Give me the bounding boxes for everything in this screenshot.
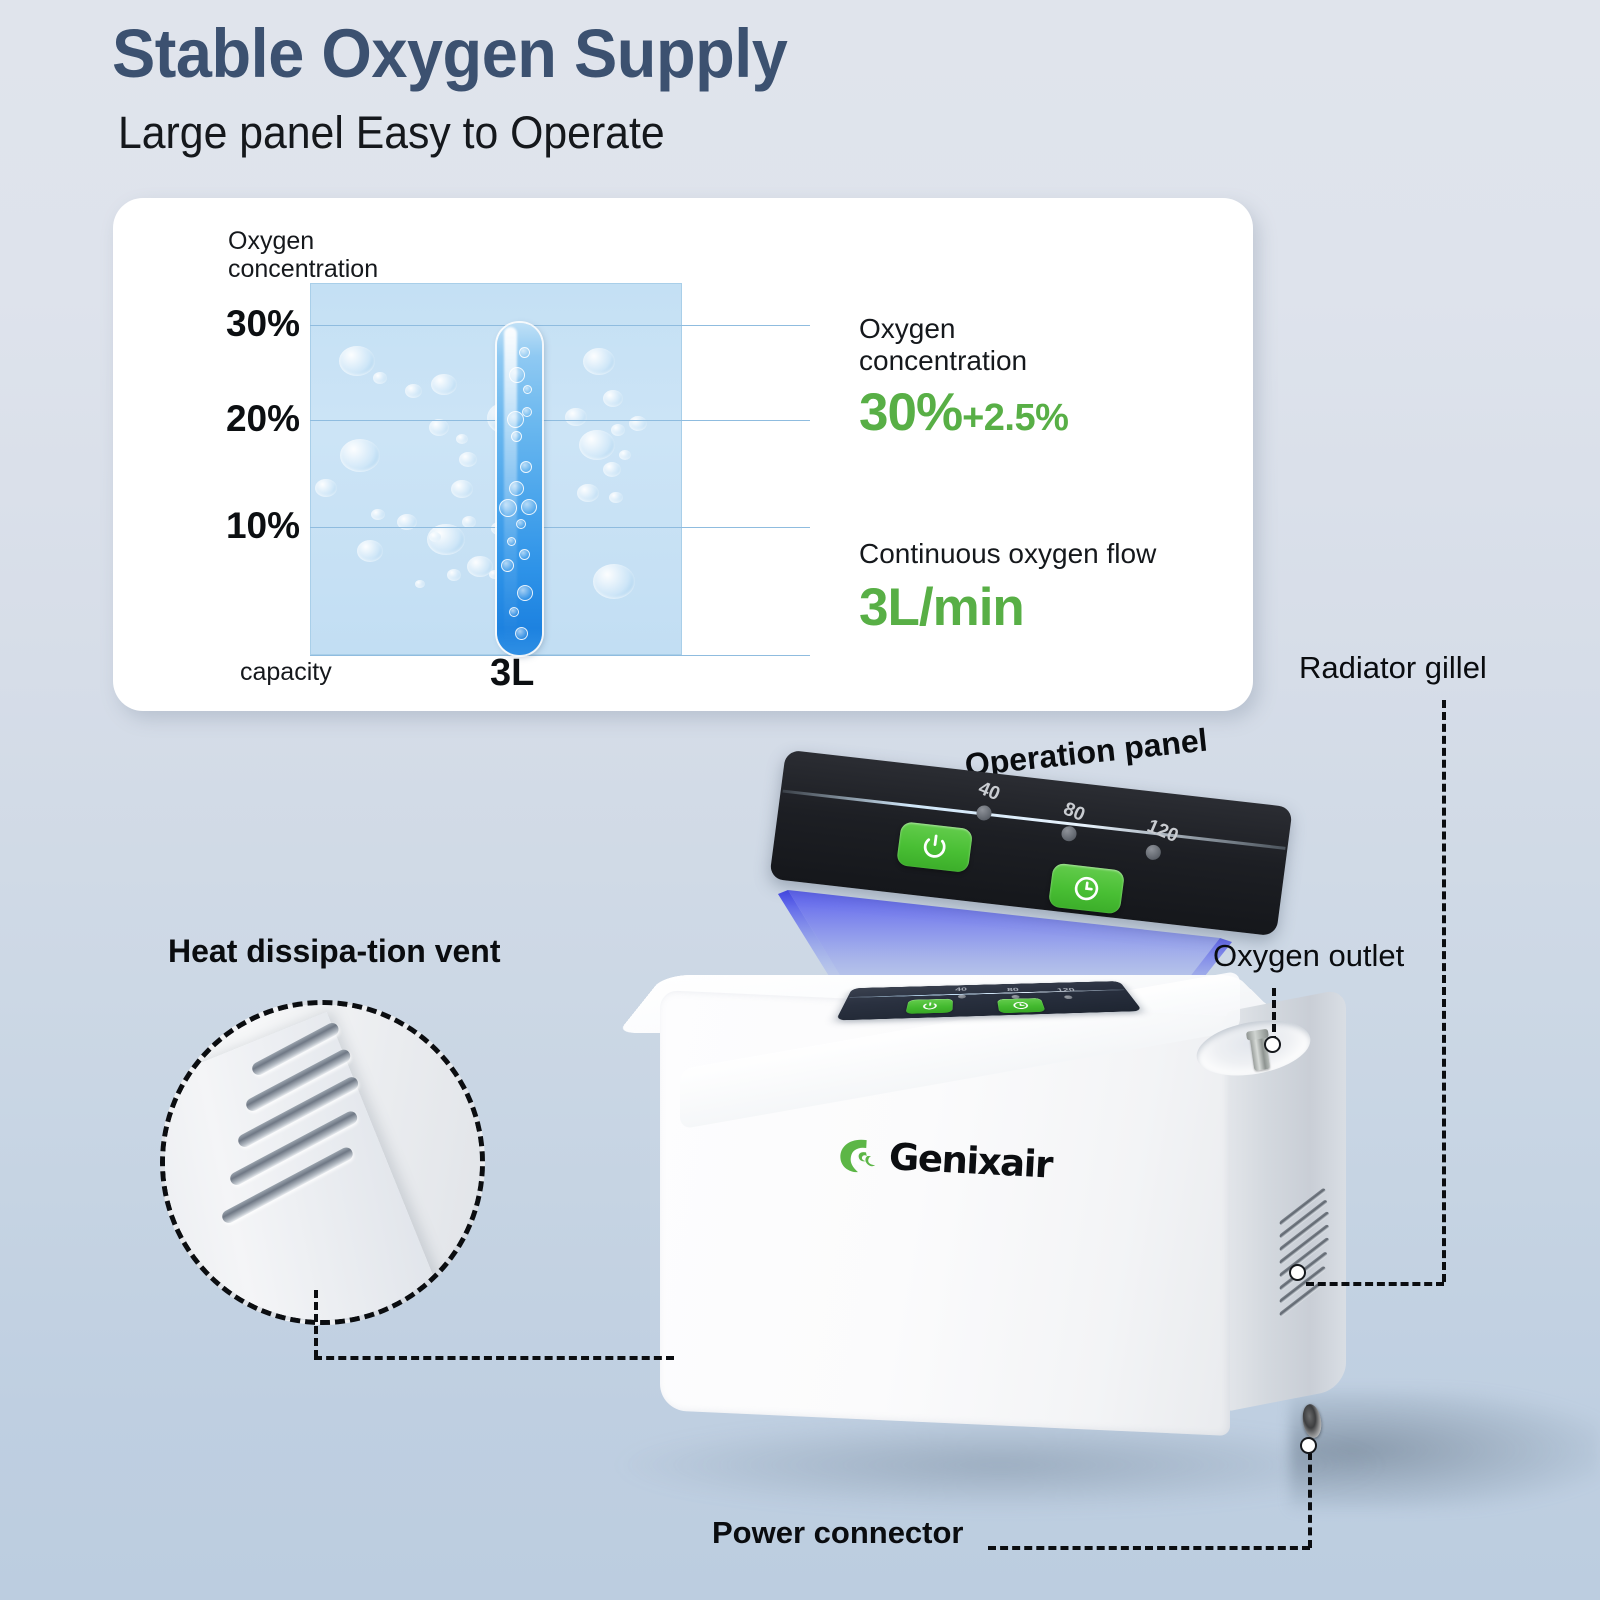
chart-y-axis-title: Oxygen concentration [228,227,378,283]
callout-radiator-grille: Radiator gillel [1299,650,1487,686]
page-title: Stable Oxygen Supply [112,16,787,92]
chart-x-axis-title: capacity [240,658,332,687]
device-shadow-bottom [620,1420,1380,1510]
leader-heat-vent-vertical [314,1290,318,1358]
panel-hairline [782,790,1285,850]
leader-radiator-horizontal [1306,1282,1444,1286]
infographic-canvas: Stable Oxygen Supply Large panel Easy to… [0,0,1600,1600]
chart-plot-area [310,283,682,655]
radiator-grille [1276,1206,1342,1323]
callout-heat-vent: Heat dissipa-tion vent [168,933,501,970]
led-indicator-40 [976,805,993,822]
stat-concentration-label: Oxygen concentration [859,313,1068,377]
led-label-80-small: 80 [1007,987,1020,992]
callout-oxygen-outlet: Oxygen outlet [1213,938,1404,974]
operation-panel-zoom[interactable]: 40 80 120 [769,750,1293,937]
ytick-20: 20% [190,398,300,440]
axis-baseline [310,655,810,656]
leader-power-vertical [1308,1452,1312,1548]
stat-continuous-flow: Continuous oxygen flow 3L/min [859,538,1156,638]
leader-radiator-vertical [1442,700,1446,1282]
ytick-30: 30% [190,303,300,345]
led-indicator-120-small [1064,995,1074,999]
stat-flow-label: Continuous oxygen flow [859,538,1156,570]
led-label-40-small: 40 [955,987,967,992]
stat-concentration-value: 30% [859,383,962,442]
stat-flow-value: 3L/min [859,578,1156,638]
clock-icon [1070,872,1104,905]
led-indicator-40-small [958,995,966,999]
led-label-40: 40 [975,778,1003,806]
chart-bar-3L [497,323,542,655]
stat-concentration-tolerance: +2.5% [962,397,1068,439]
chart-bar-label: 3L [490,652,534,695]
stat-oxygen-concentration: Oxygen concentration 30%+2.5% [859,313,1068,443]
brand-name: Genixair [888,1135,1053,1186]
gridline-20 [310,420,810,421]
clock-icon-small [1011,1001,1032,1010]
marker-radiator-grille [1289,1264,1306,1281]
led-label-120: 120 [1143,816,1181,848]
genixair-spiral-leaf-icon [835,1133,879,1177]
leader-power-horizontal [988,1546,1310,1550]
marker-power-connector [1300,1437,1317,1454]
heat-vent-detail-circle [160,1000,485,1325]
page-subtitle: Large panel Easy to Operate [118,106,665,160]
power-button[interactable] [896,821,973,873]
ytick-10: 10% [190,505,300,547]
power-icon [918,831,952,864]
callout-power-connector: Power connector [712,1515,964,1551]
timer-button-on-device[interactable] [997,998,1046,1013]
power-button-on-device[interactable] [905,999,953,1014]
panel-hairline-small [849,989,1124,998]
gridline-30 [310,325,810,326]
led-indicator-120 [1145,844,1162,861]
led-label-120-small: 120 [1056,987,1076,993]
timer-button[interactable] [1048,863,1125,915]
gridline-10 [310,527,810,528]
leader-heat-vent-horizontal [314,1356,674,1360]
marker-oxygen-outlet [1264,1036,1281,1053]
power-icon-small [920,1001,940,1011]
led-indicator-80 [1061,825,1078,842]
